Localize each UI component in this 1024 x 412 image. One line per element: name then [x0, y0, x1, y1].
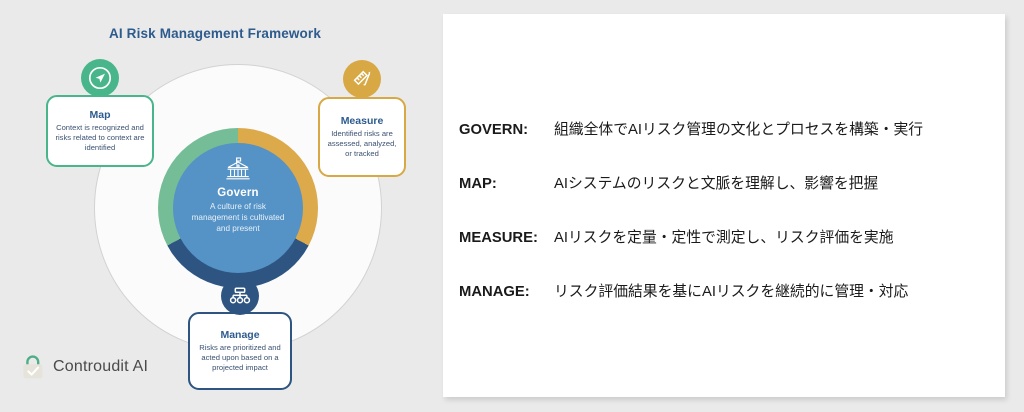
brand-name: Controudit AI: [53, 358, 148, 376]
manage-description: Risks are prioritized and acted upon bas…: [196, 343, 284, 374]
row-value: AIリスクを定量・定性で測定し、リスク評価を実施: [554, 226, 894, 247]
ai-risk-framework-infographic: AI Risk Management Framework: [0, 0, 430, 412]
navigation-arrow-icon: [88, 66, 112, 90]
manage-title: Manage: [220, 329, 259, 341]
brand-logo: Controudit AI: [18, 352, 148, 382]
nist-summary-panel: GOVERN: 組織全体でAIリスク管理の文化とプロセスを構築・実行 MAP: …: [443, 14, 1005, 397]
govern-donut: Govern A culture of risk management is c…: [158, 128, 318, 288]
list-item: MEASURE: AIリスクを定量・定性で測定し、リスク評価を実施: [459, 226, 993, 247]
screenshot-root: AI Risk Management Framework: [0, 0, 1024, 412]
row-key: MAP:: [459, 176, 554, 192]
map-title: Map: [90, 109, 111, 121]
map-badge: [81, 59, 119, 97]
sidebar-item-manage[interactable]: Manage Risks are prioritized and acted u…: [188, 312, 292, 390]
row-value: リスク評価結果を基にAIリスクを継続的に管理・対応: [554, 280, 908, 301]
row-value: 組織全体でAIリスク管理の文化とプロセスを構築・実行: [554, 118, 923, 139]
sidebar-item-measure[interactable]: Measure Identified risks are assessed, a…: [318, 97, 406, 177]
govern-title: Govern: [217, 187, 258, 199]
row-key: MEASURE:: [459, 230, 554, 246]
map-description: Context is recognized and risks related …: [54, 123, 146, 154]
summary-row-list: GOVERN: 組織全体でAIリスク管理の文化とプロセスを構築・実行 MAP: …: [459, 118, 993, 334]
govern-description: A culture of risk management is cultivat…: [186, 202, 290, 234]
sidebar-item-map[interactable]: Map Context is recognized and risks rela…: [46, 95, 154, 167]
padlock-check-icon: [18, 352, 48, 382]
page-title: AI Risk Management Framework: [0, 26, 430, 41]
measure-title: Measure: [341, 115, 384, 127]
ruler-arrow-icon: [350, 67, 374, 91]
row-value: AIシステムのリスクと文脈を理解し、影響を把握: [554, 172, 878, 193]
list-item: MANAGE: リスク評価結果を基にAIリスクを継続的に管理・対応: [459, 280, 993, 301]
measure-description: Identified risks are assessed, analyzed,…: [326, 129, 398, 160]
row-key: MANAGE:: [459, 284, 554, 300]
list-item: GOVERN: 組織全体でAIリスク管理の文化とプロセスを構築・実行: [459, 118, 993, 139]
row-key: GOVERN:: [459, 122, 554, 138]
manage-badge: [221, 277, 259, 315]
list-item: MAP: AIシステムのリスクと文脈を理解し、影響を把握: [459, 172, 993, 193]
bank-institution-icon: [225, 157, 251, 181]
govern-center: Govern A culture of risk management is c…: [173, 143, 303, 273]
org-chart-icon: [228, 284, 252, 308]
measure-badge: [343, 60, 381, 98]
